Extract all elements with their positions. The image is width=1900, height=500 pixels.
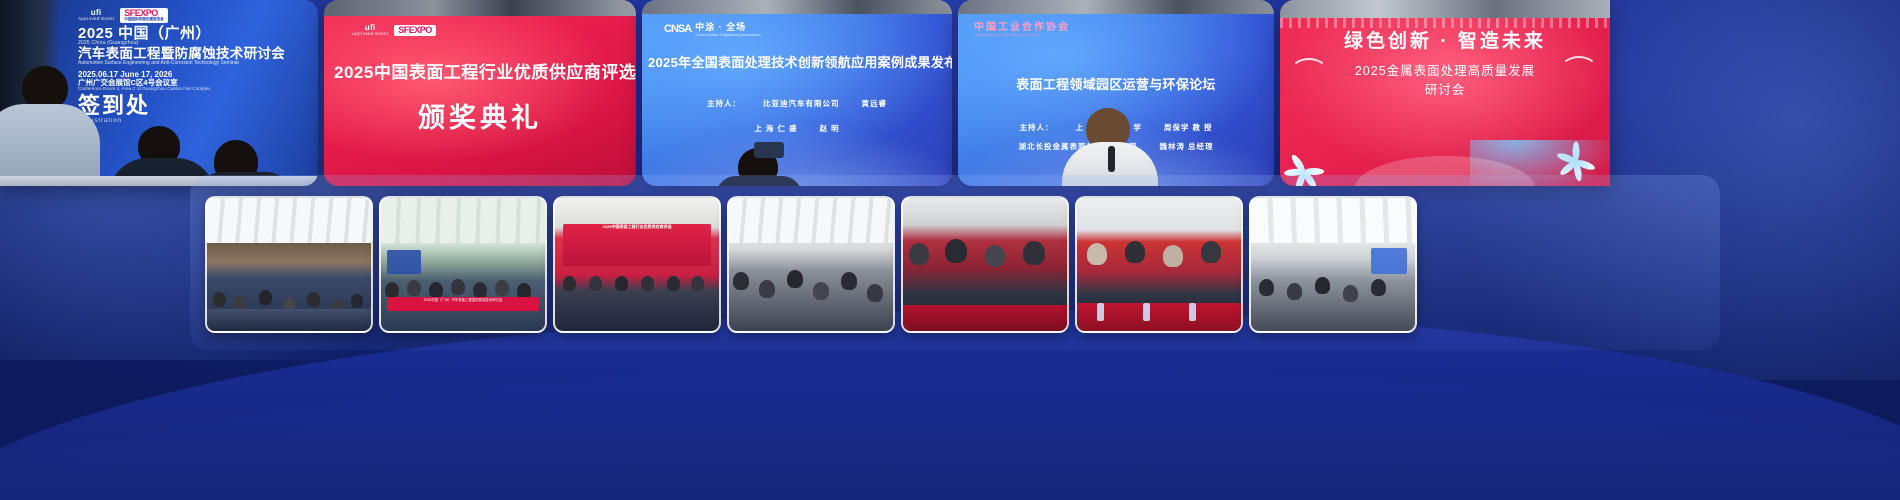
backdrop-line2: 汽车表面工程暨防腐蚀技术研讨会 [78, 47, 312, 61]
thumb-conference-room[interactable] [205, 196, 373, 333]
award-subtitle: 颁奖典礼 [324, 96, 636, 135]
thumb-award-winners[interactable]: 2025中国表面工程行业优质供应商评选 [553, 196, 721, 333]
award-winners [555, 270, 719, 331]
sfexpo-icon: SFEXPO [394, 25, 436, 36]
registration-backdrop: ufi Approved Event SFEXPO 中国国际表面处理展览会 20… [0, 0, 318, 186]
visitors [1251, 265, 1415, 332]
thumb-audience-seated[interactable] [901, 196, 1069, 333]
audience [207, 270, 371, 331]
ceiling-strip [642, 0, 952, 14]
ufi-icon: ufi Approved Event [352, 24, 388, 37]
panelists [1077, 235, 1241, 331]
ceiling-strip [324, 0, 636, 16]
ceiling-lights [207, 198, 371, 243]
banner-subtitle-line2: 研讨会 [1300, 81, 1590, 100]
group-photo-caption-banner: 2025中国（广州）汽车表面工程暨防腐蚀技术研讨会 [387, 297, 539, 311]
award-logos: ufi Approved Event SFEXPO [352, 24, 436, 37]
card-green-innovation[interactable]: 绿色创新 · 智造未来 2025金属表面处理高质量发展 研讨会 [1280, 0, 1610, 186]
ufi-logo: ufi Approved Event [78, 9, 114, 22]
slide-title: 表面工程领域园区运营与环保论坛 [964, 74, 1268, 93]
led-slide-forum: 中国工业合作协会 China Industrial Cooperation As… [958, 0, 1274, 186]
collage-stage: ufi Approved Event SFEXPO 中国国际表面处理展览会 20… [0, 0, 1900, 500]
ceiling-strip [1280, 0, 1610, 18]
thumbnail-row: 2025中国（广州）汽车表面工程暨防腐蚀技术研讨会 2025中国表面工程行业优质… [205, 196, 1417, 333]
backdrop-line2-en: Automotive Surface Engineering and Anti-… [78, 61, 312, 66]
host-person: 黄远睿 [862, 98, 888, 109]
backdrop-sign-title-en: Registration [78, 118, 312, 124]
backdrop-line1: 2025 中国（广州） [78, 26, 312, 41]
card-led-release[interactable]: CNSA 中涂 · 全场 China Surface Engineering A… [642, 0, 952, 186]
ceiling-lights [729, 198, 893, 243]
association-logo: CNSA 中涂 · 全场 China Surface Engineering A… [664, 20, 761, 37]
award-title: 2025中国表面工程行业优质供应商评选 [334, 58, 632, 83]
sfexpo-logo: SFEXPO 中国国际表面处理展览会 [120, 8, 168, 23]
award-stage-screen: 2025中国表面工程行业优质供应商评选 [563, 224, 711, 266]
award-banner: ufi Approved Event SFEXPO 2025中国表面工程行业优质… [324, 0, 636, 186]
card-award-ceremony[interactable]: ufi Approved Event SFEXPO 2025中国表面工程行业优质… [324, 0, 636, 186]
host-label: 主持人： [707, 98, 741, 109]
backdrop-line1-en: 2025 China (Guangzhou) [78, 41, 312, 46]
backdrop-venue-en: Conference Room 4, Area C of Guangzhou C… [78, 87, 312, 92]
thumb-exhibition-hall[interactable] [1249, 196, 1417, 333]
host-org: 比亚迪汽车有限公司 [763, 98, 840, 109]
banner-headline: 绿色创新 · 智造未来 [1280, 26, 1610, 53]
card-led-forum[interactable]: 中国工业合作协会 China Industrial Cooperation As… [958, 0, 1274, 186]
slide-title: 2025年全国表面处理技术创新领航应用案例成果发布会 [648, 52, 946, 71]
backdrop-text: ufi Approved Event SFEXPO 中国国际表面处理展览会 20… [78, 8, 312, 124]
audience [729, 254, 893, 331]
thumb-group-photo[interactable]: 2025中国（广州）汽车表面工程暨防腐蚀技术研讨会 [379, 196, 547, 333]
card-registration-desk[interactable]: ufi Approved Event SFEXPO 中国国际表面处理展览会 20… [0, 0, 318, 186]
cloud-swirl-left [1290, 58, 1328, 86]
ceiling-lights [1251, 198, 1415, 243]
association-name: 中涂 · 全场 China Surface Engineering Associ… [695, 20, 761, 37]
led-slide-release: CNSA 中涂 · 全场 China Surface Engineering A… [642, 0, 952, 186]
backdrop-logos: ufi Approved Event SFEXPO 中国国际表面处理展览会 [78, 8, 312, 23]
banner-subtitle: 2025金属表面处理高质量发展 研讨会 [1300, 62, 1590, 100]
banner-subtitle-line1: 2025金属表面处理高质量发展 [1300, 62, 1590, 81]
ceiling-lights [381, 198, 545, 243]
audience [903, 233, 1067, 331]
industrial-association-logo: 中国工业合作协会 China Industrial Cooperation As… [974, 18, 1070, 37]
top-photo-row: ufi Approved Event SFEXPO 中国国际表面处理展览会 20… [0, 0, 1900, 192]
cnsa-mark: CNSA [664, 23, 691, 35]
thumb-panel-table[interactable] [1075, 196, 1243, 333]
thumb-audience-front[interactable] [727, 196, 895, 333]
ceiling-strip [958, 0, 1274, 14]
cloud-swirl-right [1560, 56, 1598, 84]
backdrop-sign-title: 签到处 [78, 95, 312, 117]
slide-host-row: 主持人： 比亚迪汽车有限公司 黄远睿 [654, 98, 940, 109]
seminar-banner: 绿色创新 · 智造未来 2025金属表面处理高质量发展 研讨会 [1280, 0, 1610, 186]
